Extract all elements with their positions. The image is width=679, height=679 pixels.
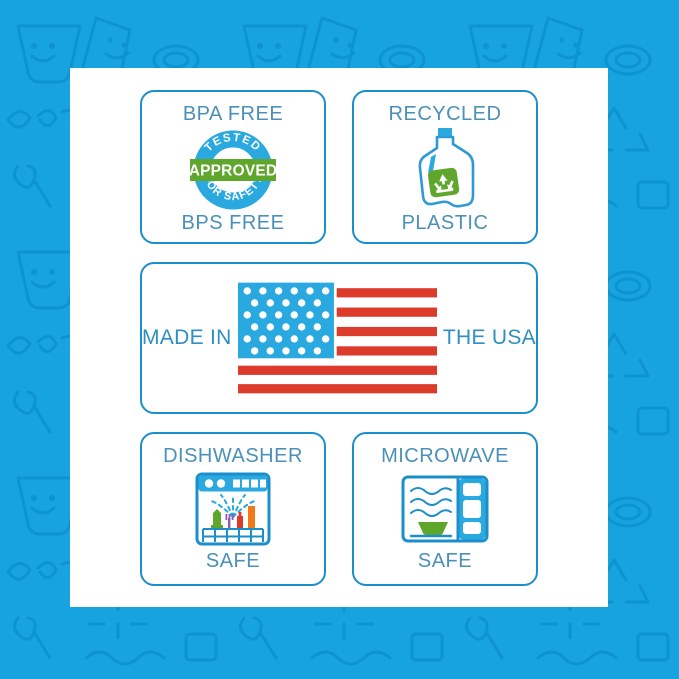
usa-left-text: MADE IN bbox=[142, 326, 232, 350]
card-microwave-safe[interactable]: MICROWAVE bbox=[352, 432, 538, 586]
microwave-art bbox=[354, 468, 536, 550]
card-recycled-plastic[interactable]: RECYCLED bbox=[352, 90, 538, 244]
recycled-bottom-label: PLASTIC bbox=[402, 212, 489, 235]
card-bpa-free[interactable]: BPA FREE TESTED FOR SAFETY bbox=[140, 90, 326, 244]
usa-flag-icon bbox=[238, 278, 437, 398]
bpa-top-label: BPA FREE bbox=[183, 103, 283, 126]
microwave-top-label: MICROWAVE bbox=[381, 445, 509, 468]
microwave-bottom-label: SAFE bbox=[418, 550, 472, 573]
infographic-root: BPA FREE TESTED FOR SAFETY bbox=[0, 0, 679, 679]
dishwasher-icon bbox=[195, 472, 271, 546]
recycled-top-label: RECYCLED bbox=[389, 103, 502, 126]
usa-right-text: THE USA bbox=[443, 326, 536, 350]
milk-jug-icon bbox=[406, 126, 484, 212]
dishwasher-bottom-label: SAFE bbox=[206, 550, 260, 573]
badge-center-text: APPROVED bbox=[189, 163, 278, 180]
bpa-badge-art: TESTED FOR SAFETY APPROVED bbox=[142, 126, 324, 212]
card-dishwasher-safe[interactable]: DISHWASHER bbox=[140, 432, 326, 586]
recycled-jug-art bbox=[354, 126, 536, 212]
dishwasher-art bbox=[142, 468, 324, 550]
card-made-in-usa[interactable]: MADE IN bbox=[140, 262, 538, 414]
white-content-panel: BPA FREE TESTED FOR SAFETY bbox=[70, 68, 608, 607]
microwave-icon bbox=[401, 475, 489, 543]
bpa-bottom-label: BPS FREE bbox=[182, 212, 285, 235]
dishwasher-top-label: DISHWASHER bbox=[163, 445, 303, 468]
approved-badge-icon: TESTED FOR SAFETY APPROVED bbox=[185, 126, 281, 212]
